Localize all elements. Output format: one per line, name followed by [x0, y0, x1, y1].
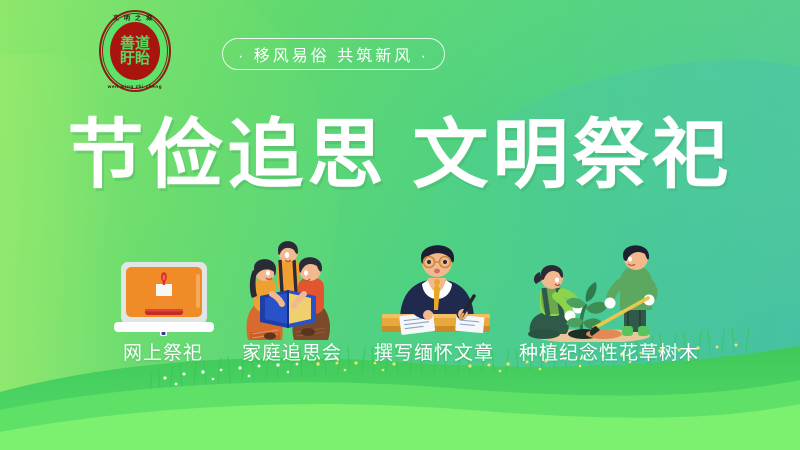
grass-flowers-white [163, 363, 298, 386]
seal-arc-text: 文明之城 [99, 13, 171, 22]
man-writing-desk-icon [378, 234, 494, 342]
seal-badge: 文明之城 善道 盱眙 wen ming zhi cheng [99, 10, 171, 92]
poster-root: 文明之城 善道 盱眙 wen ming zhi cheng · 移风易俗 共筑新… [0, 0, 800, 450]
seal-core: 善道 盱眙 [110, 22, 160, 80]
page-title: 节俭追思 文明祭祀 [0, 118, 800, 194]
tagline-pill: · 移风易俗 共筑新风 · [222, 38, 445, 70]
planting-tree-icon [520, 230, 660, 342]
seal-pinyin-text: wen ming zhi cheng [99, 84, 171, 89]
seal-core-text: 善道 盱眙 [110, 22, 160, 80]
caption-family-remembrance: 家庭追思会 [238, 338, 346, 365]
family-reading-icon [230, 232, 346, 342]
seal-core-line-1: 善道 [120, 36, 150, 51]
caption-write-memorial-article: 撰写缅怀文章 [372, 338, 496, 365]
hill-front [0, 404, 800, 450]
caption-plant-memorial-trees: 种植纪念性花草树木 [516, 338, 702, 365]
illustration-row [0, 222, 800, 342]
hill-mid [0, 380, 800, 450]
seal-core-line-2: 盱眙 [120, 51, 150, 66]
caption-online-memorial: 网上祭祀 [120, 338, 206, 365]
laptop-candle-icon [112, 252, 216, 342]
